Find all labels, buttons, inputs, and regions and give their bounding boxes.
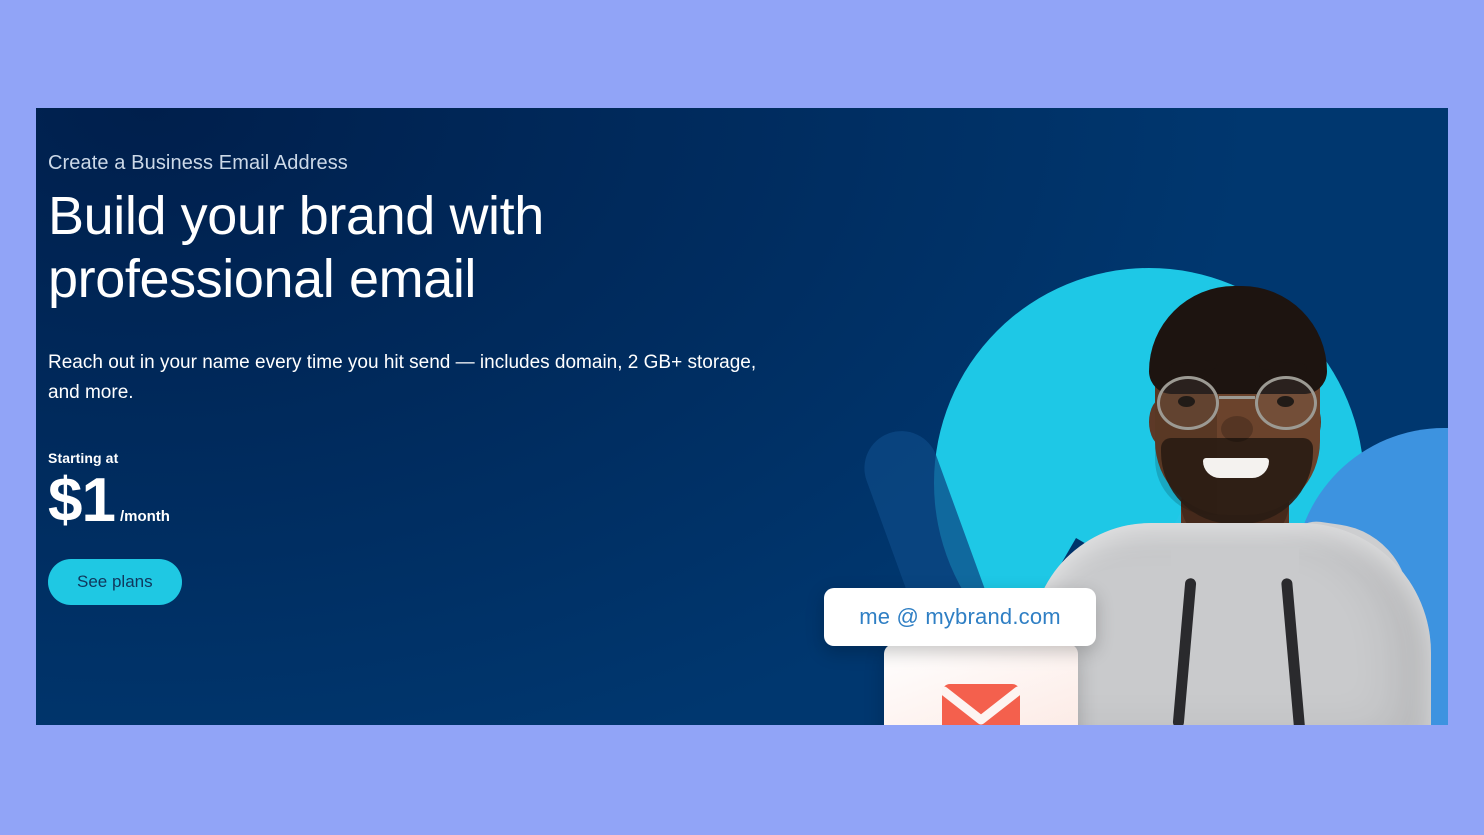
email-address-text: me @ mybrand.com: [859, 604, 1061, 630]
page-title: Build your brand with professional email: [48, 185, 648, 310]
subject-photo: [1021, 248, 1441, 725]
eyeglasses-bridge: [1219, 396, 1255, 399]
price-period: /month: [120, 508, 170, 529]
promo-banner: Create a Business Email Address Build yo…: [36, 108, 1448, 725]
mail-envelope-icon: [942, 684, 1020, 725]
mail-icon-card: [884, 644, 1078, 725]
eyeglasses-lens-right: [1255, 376, 1317, 430]
kicker-text: Create a Business Email Address: [48, 152, 818, 175]
subject-nose: [1221, 416, 1253, 442]
subject-smile: [1203, 458, 1269, 478]
banner-content: Create a Business Email Address Build yo…: [48, 152, 818, 605]
price-row: $1 /month: [48, 472, 818, 529]
starting-at-label: Starting at: [48, 450, 818, 466]
see-plans-button[interactable]: See plans: [48, 559, 182, 605]
price-amount: $1: [48, 472, 115, 529]
subcopy-text: Reach out in your name every time you hi…: [48, 348, 788, 408]
price-block: Starting at $1 /month: [48, 450, 818, 529]
email-address-card: me @ mybrand.com: [824, 588, 1096, 646]
eyeglasses-lens-left: [1157, 376, 1219, 430]
